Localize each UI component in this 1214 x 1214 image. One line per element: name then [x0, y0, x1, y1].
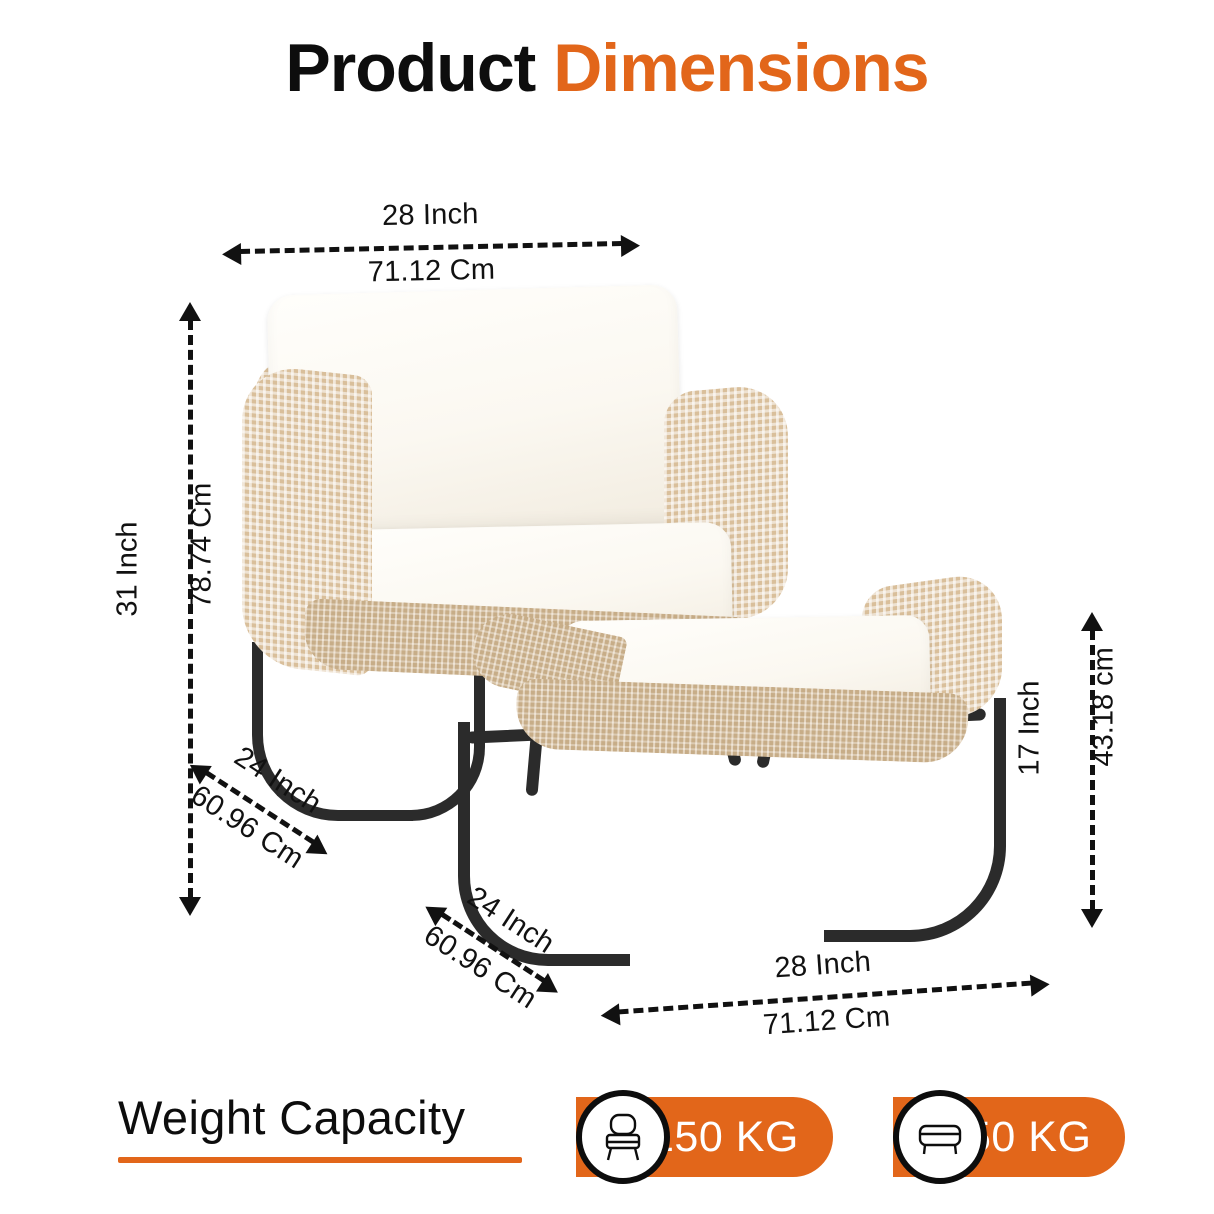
- dimension-value-cm: 71.12 Cm: [368, 254, 496, 290]
- weight-capacity-underline: [118, 1157, 522, 1163]
- arrow-head-right: [305, 835, 333, 864]
- dimension-ottoman-depth: 24 Inch 60.96 Cm: [440, 912, 545, 983]
- title-part-product: Product: [285, 30, 553, 106]
- badge-chair-weight[interactable]: 150 KG: [576, 1096, 833, 1178]
- arrow-head-down: [1081, 909, 1103, 928]
- arrow-head-down: [179, 897, 201, 916]
- badge-ottoman-weight[interactable]: 50 KG: [893, 1096, 1125, 1178]
- dimension-value-inch: 31 Inch: [112, 522, 145, 702]
- title-part-dimensions: Dimensions: [553, 30, 928, 106]
- ottoman-icon: [893, 1090, 987, 1184]
- arrow-head-left: [600, 1003, 620, 1026]
- page-title: Product Dimensions: [0, 34, 1214, 102]
- weight-capacity-block: Weight Capacity: [118, 1090, 522, 1163]
- arrow-head-right: [1030, 973, 1050, 996]
- chair-icon: [576, 1090, 670, 1184]
- dimension-value-inch: 28 Inch: [773, 946, 872, 986]
- product-illustration: 28 Inch 71.12 Cm 31 Inch 78.74 Cm 24 Inc…: [0, 140, 1214, 1070]
- dimension-value-cm: 78.74 Cm: [186, 409, 219, 609]
- footer-weight-capacity: Weight Capacity 150 KG: [0, 1082, 1214, 1214]
- dimension-line: [240, 241, 622, 254]
- dimension-chair-width: 28 Inch 71.12 Cm: [240, 241, 622, 254]
- arrow-head-up: [179, 302, 201, 321]
- arrow-head-right: [621, 235, 640, 257]
- arrow-head-left: [222, 243, 241, 265]
- weight-capacity-label: Weight Capacity: [118, 1090, 522, 1145]
- dimension-value-inch: 28 Inch: [382, 198, 479, 233]
- dimension-value-inch: 17 Inch: [1014, 681, 1047, 861]
- dimension-chair-depth: 24 Inch 60.96 Cm: [205, 771, 315, 845]
- dimension-value-cm: 43.18 cm: [1088, 567, 1121, 767]
